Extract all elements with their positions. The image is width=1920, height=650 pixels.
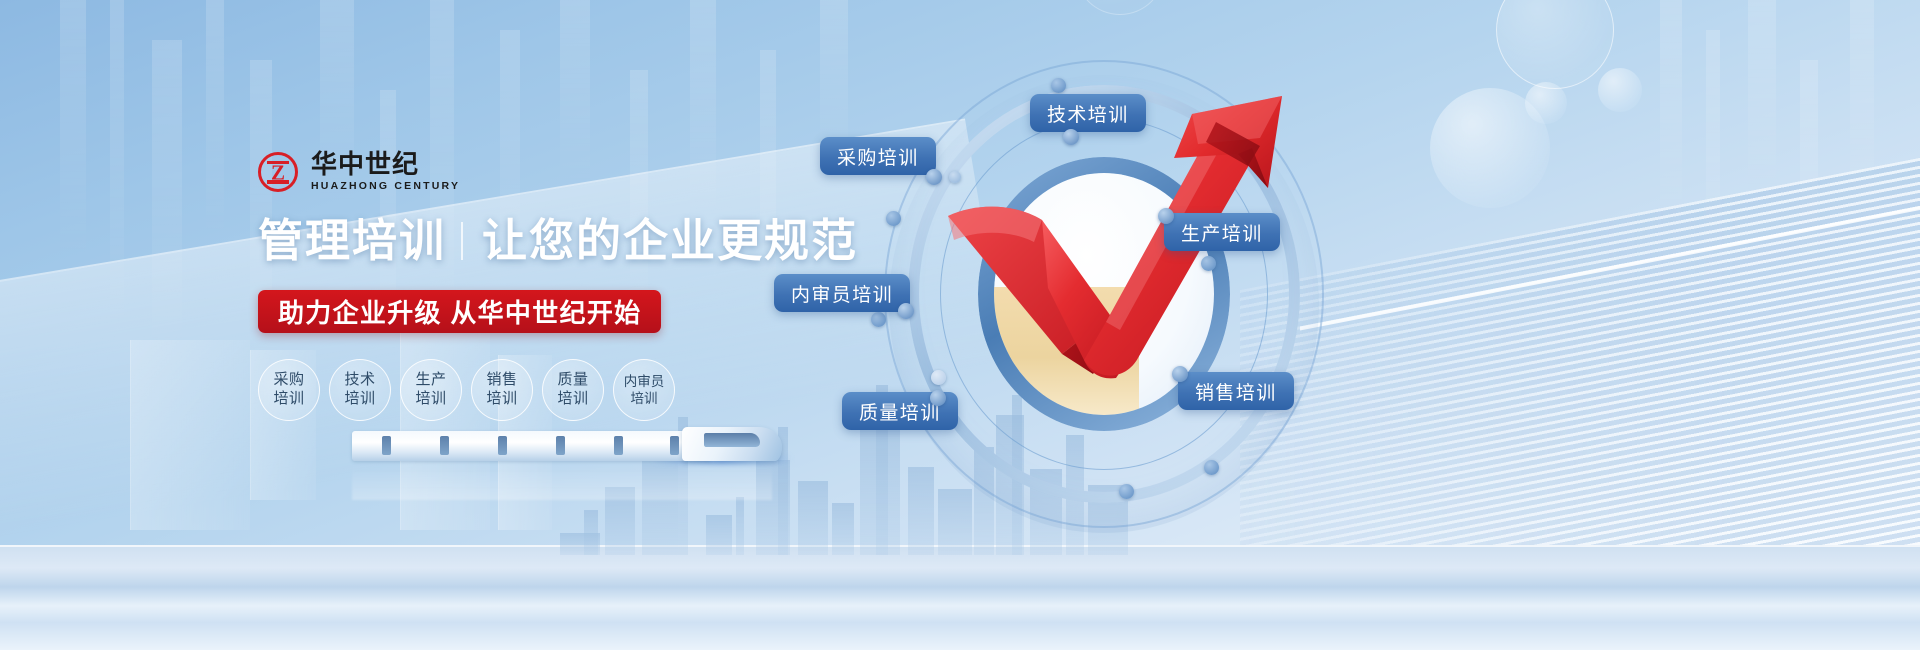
chip-line-1: 销售: [486, 371, 517, 390]
headline-divider: [461, 222, 463, 260]
callout-dot: [926, 169, 942, 185]
chip-line-2: 培训: [631, 390, 658, 407]
high-speed-train: [352, 425, 772, 465]
brand-name-cn: 华中世纪: [311, 151, 460, 178]
page-title: 管理培训 让您的企业更规范: [258, 215, 878, 267]
bubble-decoration: [1496, 0, 1614, 89]
chip-line-1: 技术: [344, 371, 375, 390]
slogan-ribbon: 助力企业升级 从华中世纪开始: [258, 290, 661, 333]
course-chip[interactable]: 采购 培训: [258, 359, 320, 421]
course-chip[interactable]: 销售 培训: [471, 359, 533, 421]
brand-name-en: HUAZHONG CENTURY: [311, 179, 460, 194]
stripes-edge-highlight: [1300, 206, 1920, 331]
chip-line-1: 质量: [557, 371, 588, 390]
train-reflection: [352, 466, 772, 500]
course-chip[interactable]: 质量 培训: [542, 359, 604, 421]
chip-line-2: 培训: [486, 390, 517, 409]
bubble-decoration: [1525, 82, 1567, 124]
course-chip[interactable]: 技术 培训: [329, 359, 391, 421]
callout-label[interactable]: 销售培训: [1178, 372, 1294, 410]
callout-label[interactable]: 内审员培训: [774, 274, 910, 312]
callout-dot: [1172, 366, 1188, 382]
ring-node-dot: [1119, 484, 1134, 499]
chip-line-2: 培训: [557, 390, 588, 409]
ring-node-dot: [1051, 78, 1066, 93]
callout-dot: [1158, 208, 1174, 224]
logo-letter: Z: [271, 162, 285, 183]
ghost-tower: [130, 340, 250, 530]
course-chip-list: 采购 培训 技术 培训 生产 培训 销售 培训 质量 培训 内审员 培训: [258, 359, 878, 421]
course-chip[interactable]: 生产 培训: [400, 359, 462, 421]
callout-dot: [1063, 129, 1079, 145]
callout-dot: [930, 390, 946, 406]
floor-reflection: [0, 545, 1920, 650]
chip-line-2: 培训: [273, 390, 304, 409]
chip-line-2: 培训: [344, 390, 375, 409]
headline-left: 管理培训: [258, 215, 446, 267]
callout-dot: [898, 303, 914, 319]
bubble-decoration: [1598, 68, 1642, 112]
bubble-decoration: [1430, 88, 1550, 208]
chip-line-1: 生产: [415, 371, 446, 390]
callout-label[interactable]: 技术培训: [1030, 94, 1146, 132]
promo-banner: Z 华中世纪 HUAZHONG CENTURY 管理培训 让您的企业更规范 助力…: [0, 0, 1920, 650]
horizon-line: [0, 545, 1920, 547]
chip-line-2: 培训: [415, 390, 446, 409]
ring-node-dot: [886, 211, 901, 226]
bubble-decoration: [1075, 0, 1165, 15]
callout-label[interactable]: 生产培训: [1164, 213, 1280, 251]
headline-right: 让您的企业更规范: [482, 215, 858, 267]
huazhong-circular-emblem-icon: Z: [258, 152, 298, 192]
ring-node-dot: [1204, 460, 1219, 475]
callout-label[interactable]: 采购培训: [820, 137, 936, 175]
ring-node-dot: [871, 312, 886, 327]
brand-logo: Z 华中世纪 HUAZHONG CENTURY: [258, 150, 878, 194]
chip-line-1: 内审员: [624, 373, 665, 390]
chip-line-1: 采购: [273, 371, 304, 390]
course-chip[interactable]: 内审员 培训: [613, 359, 675, 421]
